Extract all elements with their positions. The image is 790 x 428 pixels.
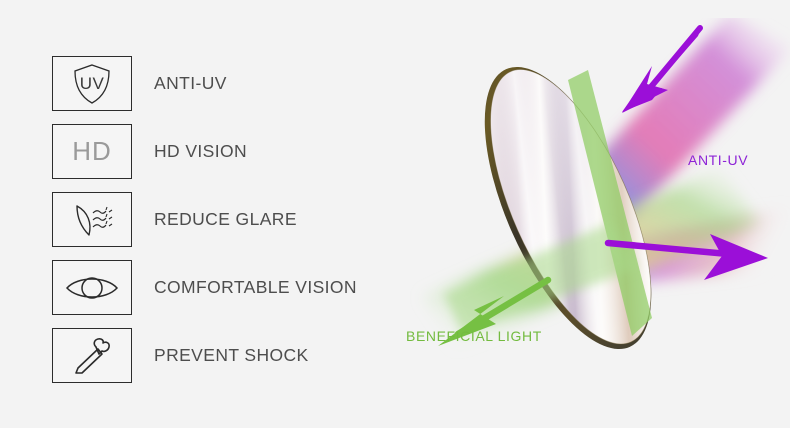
feature-list: UV ANTI-UV HD HD VISION xyxy=(52,56,452,396)
hd-icon-text: HD xyxy=(72,136,112,167)
feature-item-comfortable-vision: COMFORTABLE VISION xyxy=(52,260,452,315)
feature-item-anti-uv: UV ANTI-UV xyxy=(52,56,452,111)
hammer-icon xyxy=(52,328,132,383)
feature-label-comfortable-vision: COMFORTABLE VISION xyxy=(154,277,357,298)
feature-item-hd-vision: HD HD VISION xyxy=(52,124,452,179)
reduce-glare-icon xyxy=(52,192,132,247)
uv-shield-icon: UV xyxy=(52,56,132,111)
feature-label-reduce-glare: REDUCE GLARE xyxy=(154,209,297,230)
label-beneficial-light: BENEFICIAL LIGHT xyxy=(406,328,542,344)
feature-label-prevent-shock: PREVENT SHOCK xyxy=(154,345,309,366)
svg-text:UV: UV xyxy=(80,74,105,93)
feature-item-prevent-shock: PREVENT SHOCK xyxy=(52,328,452,383)
feature-label-hd-vision: HD VISION xyxy=(154,141,247,162)
feature-item-reduce-glare: REDUCE GLARE xyxy=(52,192,452,247)
eye-icon xyxy=(52,260,132,315)
feature-label-anti-uv: ANTI-UV xyxy=(154,73,227,94)
hd-icon: HD xyxy=(52,124,132,179)
poster-canvas: UV ANTI-UV HD HD VISION xyxy=(0,0,790,428)
label-anti-uv: ANTI-UV xyxy=(688,152,748,168)
